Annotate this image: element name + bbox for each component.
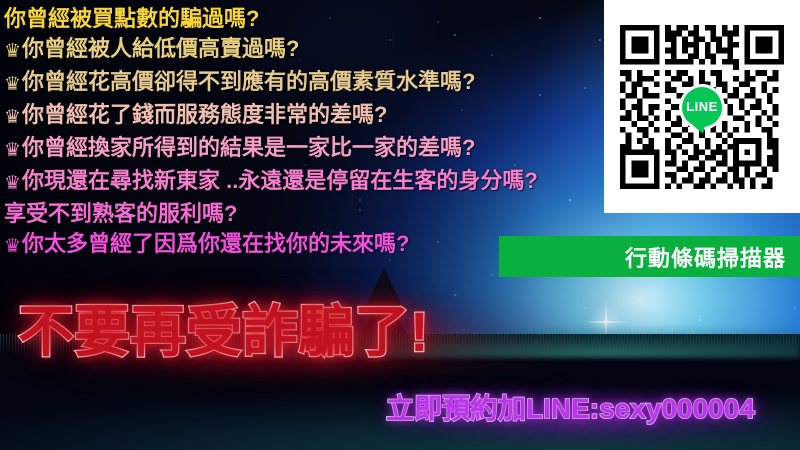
list-item-label: 你曾經花高價卻得不到應有的高價素質水準嗎? [22, 69, 475, 94]
list-item-label: 你曾經被人給低價高賣過嗎? [22, 36, 299, 61]
line-logo-label: LINE [686, 99, 718, 114]
crown-icon: ♛ [4, 37, 21, 67]
qr-code-panel[interactable]: LINE [604, 0, 800, 213]
crown-icon: ♛ [4, 103, 21, 133]
list-item-label: 你曾經花了錢而服務態度非常的差嗎? [22, 102, 387, 127]
line-logo-icon: LINE [679, 84, 725, 130]
crown-icon: ♛ [4, 232, 21, 262]
barcode-scanner-label: 行動條碼掃描器 [625, 241, 786, 273]
qr-code-image[interactable]: LINE [620, 25, 784, 189]
crown-icon: ♛ [4, 136, 21, 166]
crown-icon: ♛ [4, 70, 21, 100]
list-item-label: 你曾經換家所得到的結果是一家比一家的差嗎? [22, 135, 475, 160]
list-item-label: 你曾經被買點數的騙過嗎? [4, 6, 259, 31]
cta-line-id-text: 立即預約加LINE:sexy000004 [386, 392, 755, 426]
crown-icon: ♛ [4, 169, 21, 199]
barcode-scanner-button[interactable]: 行動條碼掃描器 [499, 236, 800, 277]
headline-text: 不要再受詐騙了! [18, 300, 429, 364]
list-item-label: 你太多曾經了因爲你還在找你的未來嗎? [22, 231, 409, 256]
list-item-label: 享受不到熟客的服利嗎? [4, 201, 237, 226]
list-item-label: 你現還在尋找新東家 ..永遠還是停留在生客的身分嗎? [22, 168, 538, 193]
promo-banner: 你曾經被買點數的騙過嗎? ♛你曾經被人給低價高賣過嗎? ♛你曾經花高價卻得不到應… [0, 0, 800, 450]
